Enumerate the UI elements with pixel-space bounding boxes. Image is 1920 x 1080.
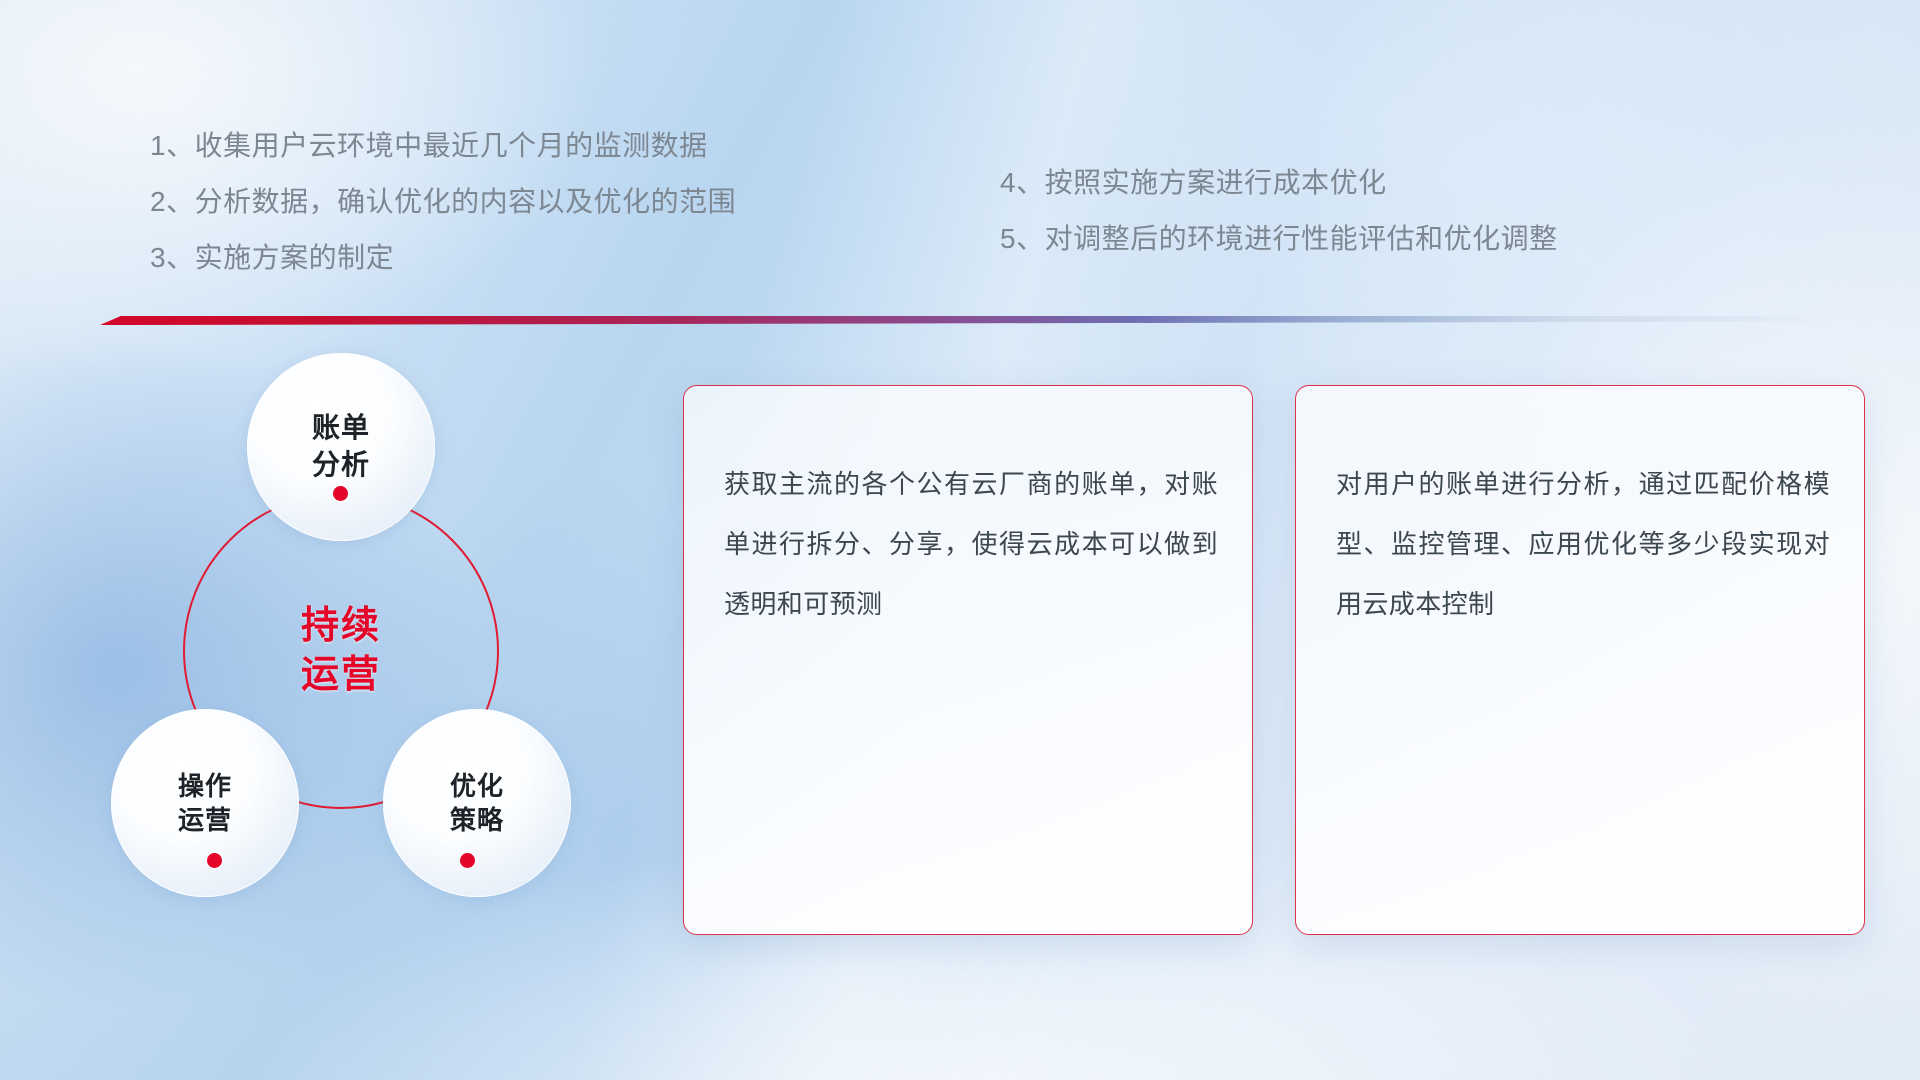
node-left-line2: 运营 [178, 805, 232, 835]
diagram-node-optimization-strategy[interactable]: 优化 策略 [383, 709, 571, 897]
step-item-5: 5、对调整后的环境进行性能评估和优化调整 [1000, 211, 1558, 267]
info-card-2-body: 对用户的账单进行分析，通过匹配价格模型、监控管理、应用优化等多少段实现对用云成本… [1336, 454, 1830, 634]
diagram-node-bill-analysis-label: 账单 分析 [312, 410, 370, 484]
node-top-line1: 账单 [312, 412, 370, 443]
center-ring-label: 持续 运营 [301, 602, 381, 701]
continuous-operation-diagram: 持续 运营 账单 分析 操作 运营 优化 策略 [95, 345, 635, 945]
info-card-cloud-cost-optimization[interactable]: 对用户的账单进行分析，通过匹配价格模型、监控管理、应用优化等多少段实现对用云成本… [1295, 385, 1865, 935]
diagram-connector-dot-right [460, 853, 475, 868]
step-item-3: 3、实施方案的制定 [150, 230, 736, 286]
diagram-node-optimization-strategy-label: 优化 策略 [450, 769, 504, 838]
node-right-line1: 优化 [450, 771, 504, 801]
center-ring-label-line1: 持续 [301, 605, 381, 647]
diagram-node-bill-analysis[interactable]: 账单 分析 [247, 353, 435, 541]
diagram-connector-dot-top [333, 486, 348, 501]
steps-section: 1、收集用户云环境中最近几个月的监测数据 2、分析数据，确认优化的内容以及优化的… [0, 0, 1920, 300]
info-card-multi-cloud-billing[interactable]: 获取主流的各个公有云厂商的账单，对账单进行拆分、分享，使得云成本可以做到透明和可… [683, 385, 1253, 935]
step-item-1: 1、收集用户云环境中最近几个月的监测数据 [150, 118, 736, 174]
steps-list-left: 1、收集用户云环境中最近几个月的监测数据 2、分析数据，确认优化的内容以及优化的… [150, 118, 736, 286]
diagram-node-operation-label: 操作 运营 [178, 769, 232, 838]
info-card-1-body: 获取主流的各个公有云厂商的账单，对账单进行拆分、分享，使得云成本可以做到透明和可… [724, 454, 1218, 634]
step-item-4: 4、按照实施方案进行成本优化 [1000, 155, 1558, 211]
node-top-line2: 分析 [312, 449, 370, 480]
diagram-connector-dot-left [207, 853, 222, 868]
center-ring-label-line2: 运营 [301, 654, 381, 696]
node-left-line1: 操作 [178, 771, 232, 801]
step-item-2: 2、分析数据，确认优化的内容以及优化的范围 [150, 174, 736, 230]
diagram-node-operation[interactable]: 操作 运营 [111, 709, 299, 897]
node-right-line2: 策略 [450, 805, 504, 835]
steps-list-right: 4、按照实施方案进行成本优化 5、对调整后的环境进行性能评估和优化调整 [1000, 155, 1558, 267]
